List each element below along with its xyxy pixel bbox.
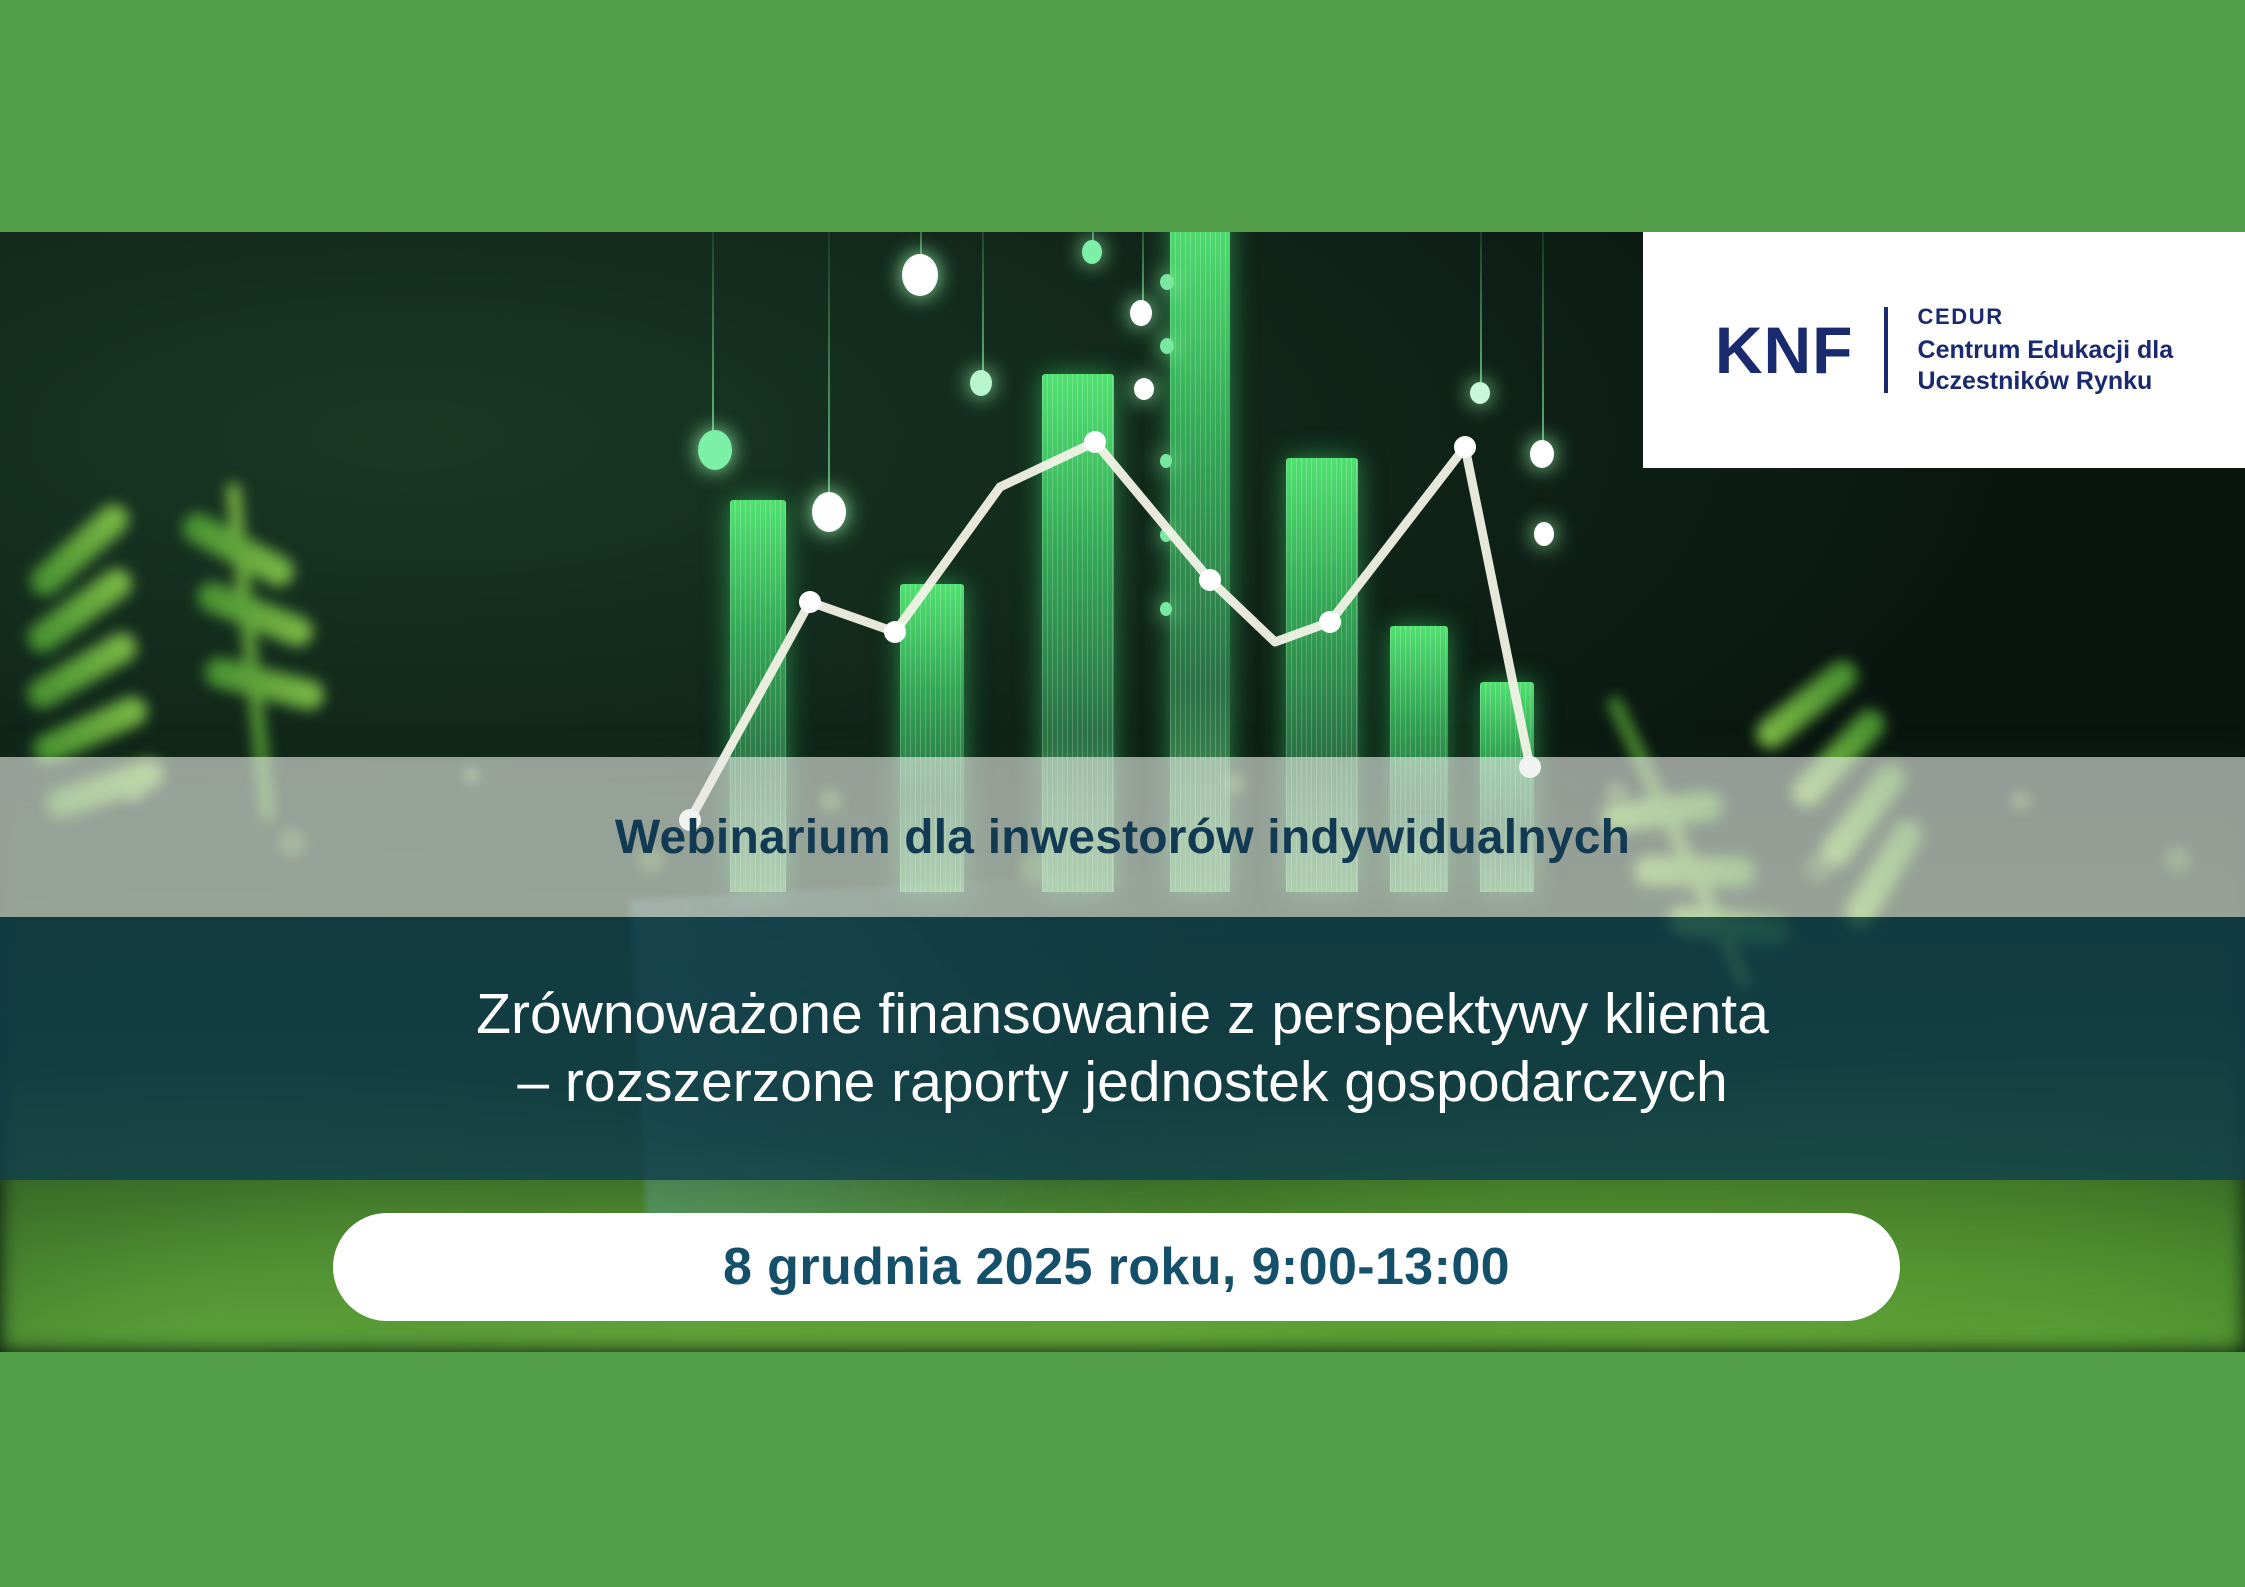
headline-line-1: Zrównoważone finansowanie z perspektywy … (476, 981, 1769, 1048)
webinar-date: 8 grudnia 2025 roku, 9:00-13:00 (723, 1237, 1510, 1297)
particle-dot (902, 254, 938, 296)
hero-banner: KNF CEDUR Centrum Edukacji dla Uczestnik… (0, 232, 2245, 1352)
particle-trail (1480, 232, 1482, 392)
logo-divider (1884, 307, 1888, 393)
particle-dot (1130, 300, 1152, 326)
particle-trail (712, 232, 714, 442)
webinar-subtitle: Webinarium dla inwestorów indywidualnych (615, 810, 1630, 865)
knf-cedur-logo: KNF CEDUR Centrum Edukacji dla Uczestnik… (1643, 232, 2245, 468)
particle-dot (1160, 338, 1174, 354)
headline-band: Zrównoważone finansowanie z perspektywy … (0, 917, 2245, 1180)
particle-trail (1542, 232, 1544, 452)
subtitle-band: Webinarium dla inwestorów indywidualnych (0, 757, 2245, 917)
particle-dot (970, 370, 992, 396)
cedur-line-2: Uczestników Rynku (1918, 366, 2174, 397)
headline-line-2: – rozszerzone raporty jednostek gospodar… (517, 1049, 1727, 1116)
banner-page: KNF CEDUR Centrum Edukacji dla Uczestnik… (0, 0, 2245, 1587)
particle-dot (1082, 240, 1102, 264)
particle-trail (982, 232, 984, 382)
logo-text-block: CEDUR Centrum Edukacji dla Uczestników R… (1918, 303, 2174, 396)
particle-dot (1160, 274, 1174, 290)
cedur-label: CEDUR (1918, 303, 2174, 330)
date-pill: 8 grudnia 2025 roku, 9:00-13:00 (333, 1213, 1900, 1321)
cedur-line-1: Centrum Edukacji dla (1918, 335, 2174, 366)
knf-wordmark: KNF (1715, 317, 1854, 383)
particle-dot (1134, 378, 1154, 400)
particle-dot (1470, 382, 1490, 404)
